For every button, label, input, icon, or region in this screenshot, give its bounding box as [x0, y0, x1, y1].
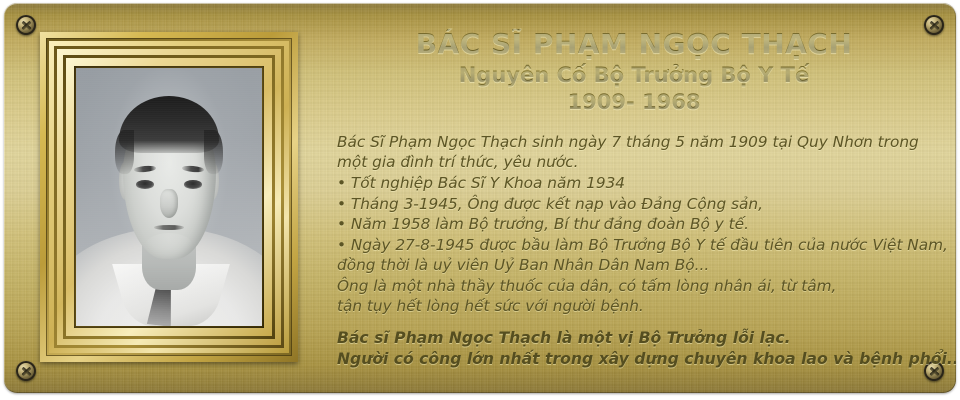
biography-line: • Năm 1958 làm Bộ trưởng, Bí thư đảng đo… — [337, 214, 940, 235]
biography-line: • Tháng 3-1945, Ông được kết nạp vào Đản… — [337, 194, 940, 215]
portrait-frame — [40, 32, 298, 362]
biography-line: • Tốt nghiệp Bác Sĩ Y Khoa năm 1934 — [337, 173, 940, 194]
brass-plaque: BÁC SĨ PHẠM NGỌC THẠCH Nguyên Cố Bộ Trưở… — [4, 3, 956, 393]
screw-top-left-icon — [16, 15, 36, 35]
paragraph-spacer — [337, 317, 940, 328]
life-years: 1909- 1968 — [328, 89, 940, 115]
photo-hair-side-right — [204, 130, 223, 174]
photo-nose — [160, 189, 179, 217]
closing-block: Bác sĩ Phạm Ngọc Thạch là một vị Bộ Trưở… — [328, 328, 940, 370]
biography-line: một gia đình trí thức, yêu nước. — [337, 152, 940, 173]
biography-line: Ông là một nhà thầy thuốc của dân, có tấ… — [337, 276, 940, 297]
screw-bottom-left-icon — [16, 361, 36, 381]
biography-block: Bác Sĩ Phạm Ngọc Thạch sinh ngày 7 tháng… — [328, 132, 940, 328]
photo-hair-side-left — [115, 130, 134, 174]
page-title: BÁC SĨ PHẠM NGỌC THẠCH — [328, 29, 940, 59]
memorial-plaque-page: BÁC SĨ PHẠM NGỌC THẠCH Nguyên Cố Bộ Trưở… — [0, 0, 960, 400]
biography-line: đồng thời là uỷ viên Uỷ Ban Nhân Dân Nam… — [337, 255, 940, 276]
closing-line: Bác sĩ Phạm Ngọc Thạch là một vị Bộ Trưở… — [337, 328, 940, 349]
closing-line: Người có công lớn nhất trong xây dựng ch… — [337, 349, 940, 370]
plaque-text-content: BÁC SĨ PHẠM NGỌC THẠCH Nguyên Cố Bộ Trưở… — [328, 29, 940, 370]
photo-mouth — [154, 225, 184, 230]
photo-chin — [145, 233, 193, 259]
biography-line: Bác Sĩ Phạm Ngọc Thạch sinh ngày 7 tháng… — [337, 132, 940, 153]
biography-line: tận tụy hết lòng hết sức với người bệnh. — [337, 296, 940, 317]
biography-line: • Ngày 27-8-1945 được bầu làm Bộ Trưởng … — [337, 235, 940, 256]
page-subtitle: Nguyên Cố Bộ Trưởng Bộ Y Tế — [328, 62, 940, 88]
portrait-photo — [76, 68, 262, 326]
photo-eye-left — [136, 180, 155, 189]
